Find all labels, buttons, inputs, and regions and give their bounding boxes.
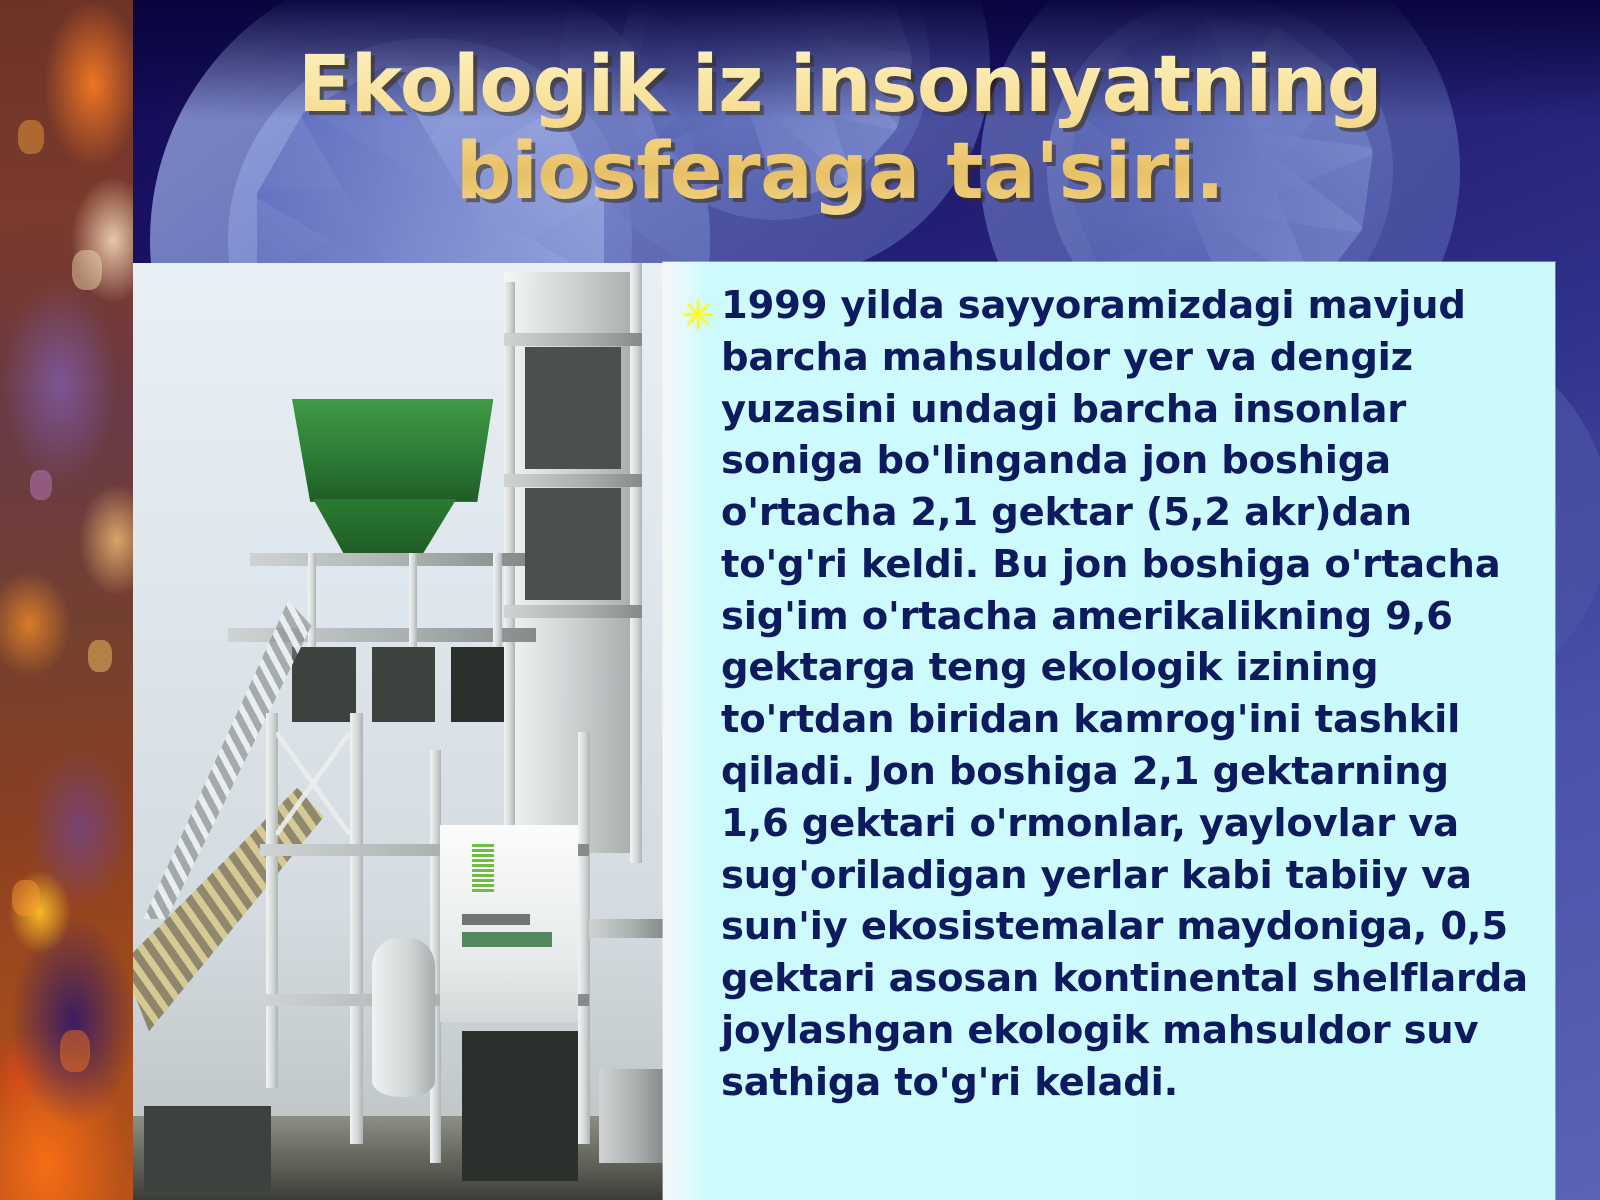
body-paragraph: 1999 yilda sayyoramizdagi mavjud barcha … [721,280,1529,1109]
title-line-1: Ekologik iz insoniyatning [200,42,1480,129]
photo-green-hopper [292,399,493,502]
title-line-2: biosferaga ta'siri. [200,129,1480,216]
photo-pressure-vessel [372,938,436,1097]
industrial-plant-photo [133,263,663,1200]
bullet-list-item: ✳ 1999 yilda sayyoramizdagi mavjud barch… [663,262,1555,1109]
slide-title: Ekologik iz insoniyatning biosferaga ta'… [200,42,1480,217]
star-bullet-icon: ✳ [675,280,721,336]
content-text-panel: ✳ 1999 yilda sayyoramizdagi mavjud barch… [663,262,1555,1200]
left-decorative-border [0,0,133,1200]
presentation-slide: Ekologik iz insoniyatning biosferaga ta'… [0,0,1600,1200]
photo-panel-logo [472,844,494,893]
